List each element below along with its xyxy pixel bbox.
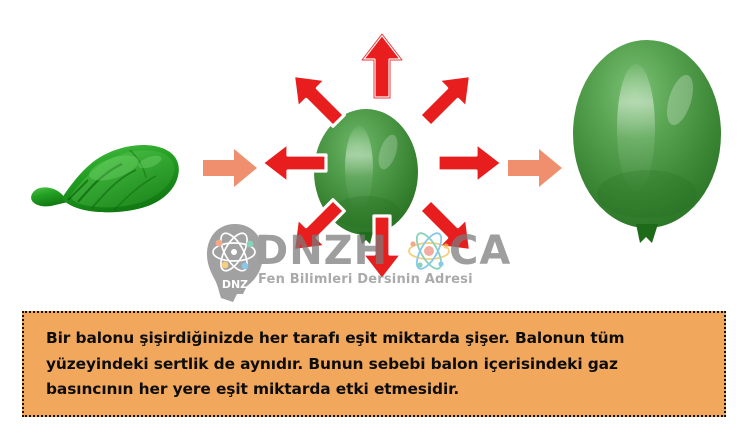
arrow-up-icon (346, 30, 418, 102)
pressure-arrow-left (258, 127, 330, 199)
pressure-arrow-up (346, 30, 418, 102)
pressure-arrow-down (346, 212, 418, 284)
arrow-down-left-icon (280, 192, 352, 264)
inflated-balloon (572, 38, 724, 253)
illustration-page: DNZ DNZH CA (0, 0, 750, 438)
balloon-icon (572, 38, 724, 253)
inflating-balloon-group (250, 22, 515, 292)
pressure-arrow-up-right (412, 62, 484, 134)
right-arrow-icon (506, 145, 564, 191)
caption-text: Bir balonu şişirdiğinizde her tarafı eşi… (46, 326, 701, 403)
watermark-logo-text: DNZ (222, 278, 248, 291)
arrow-up-left-icon (280, 62, 352, 134)
illustration-stage: DNZ DNZH CA (0, 0, 750, 305)
arrow-down-icon (346, 212, 418, 284)
arrow-left-icon (258, 127, 330, 199)
pressure-arrow-right (434, 127, 506, 199)
transition-arrow-2 (506, 145, 564, 191)
deflated-balloon (18, 128, 193, 223)
pressure-arrow-down-left (280, 192, 352, 264)
deflated-balloon-icon (18, 128, 193, 223)
caption-box: Bir balonu şişirdiğinizde her tarafı eşi… (22, 311, 726, 417)
pressure-arrow-up-left (280, 62, 352, 134)
arrow-down-right-icon (412, 192, 484, 264)
pressure-arrow-down-right (412, 192, 484, 264)
arrow-right-icon (434, 127, 506, 199)
arrow-up-right-icon (412, 62, 484, 134)
